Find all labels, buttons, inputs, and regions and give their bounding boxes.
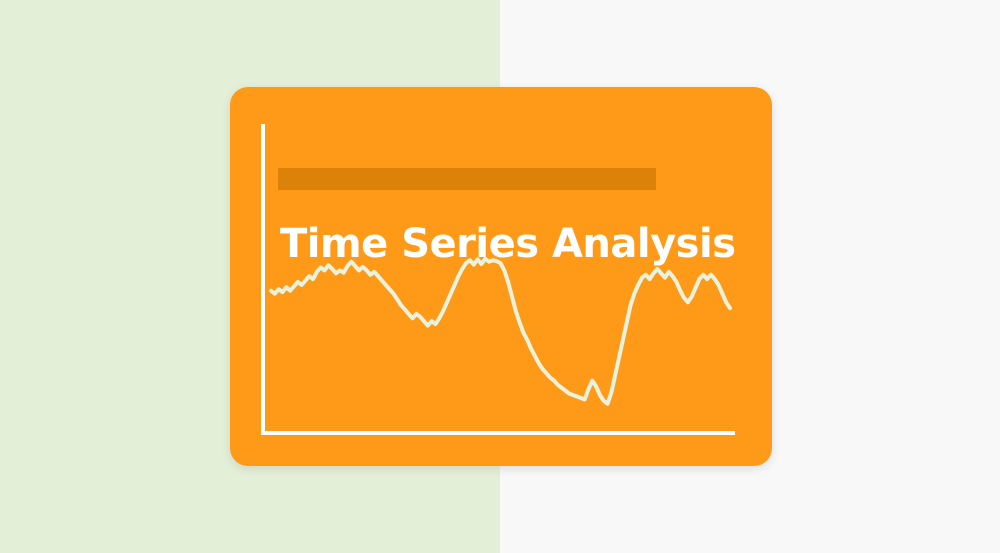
series-line-value	[271, 259, 730, 404]
title-highlight-bar	[278, 168, 656, 190]
screenshot-canvas: Time Series Analysis	[0, 0, 1000, 553]
page-title: Time Series Analysis	[280, 224, 736, 264]
time-series-card: Time Series Analysis	[230, 87, 772, 466]
line-chart-plot	[230, 87, 772, 466]
